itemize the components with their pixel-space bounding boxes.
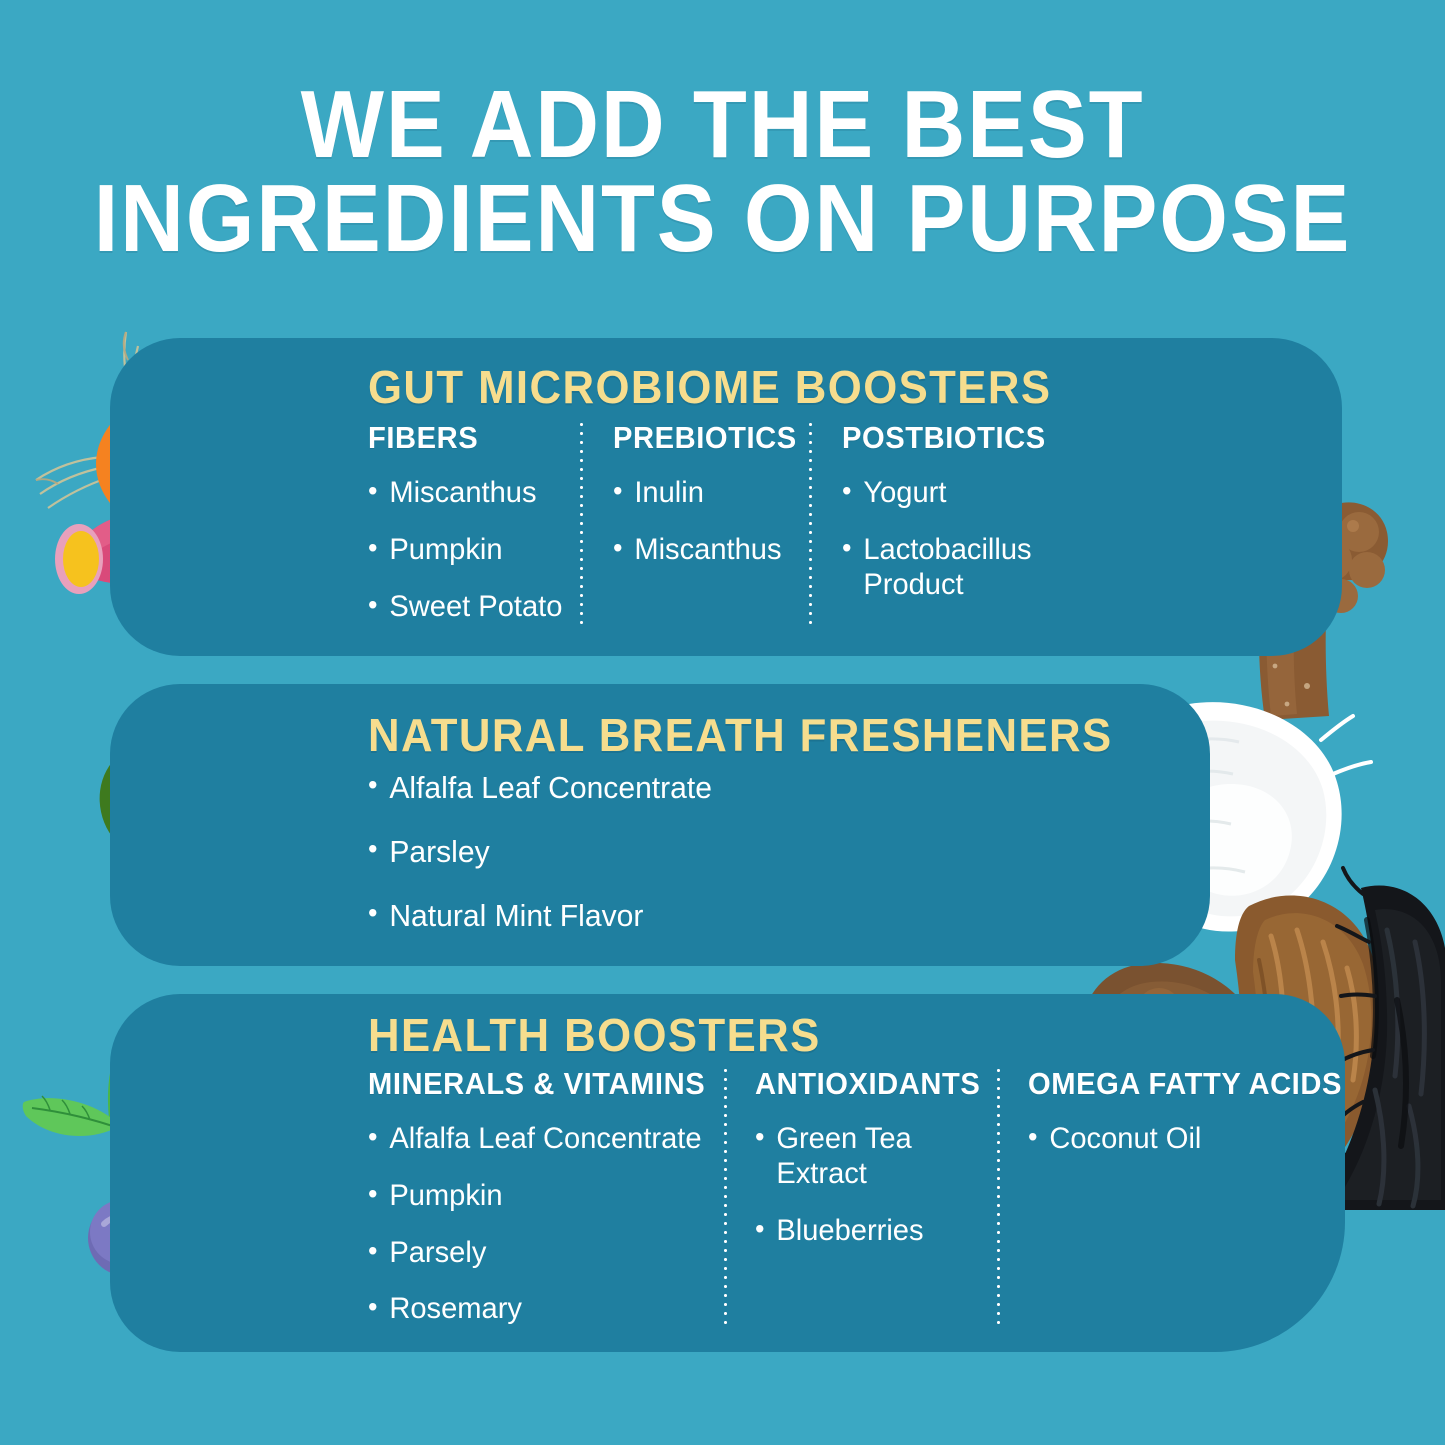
list-item: Coconut Oil bbox=[1028, 1122, 1311, 1157]
ingredient-list-breath-fresheners: Alfalfa Leaf Concentrate Parsley Natural… bbox=[368, 770, 1068, 934]
ingredient-list-postbiotics: Yogurt Lactobacillus Product bbox=[842, 476, 1072, 602]
section-heading-health-boosters: HEALTH BOOSTERS bbox=[368, 1008, 821, 1062]
section-heading-natural-breath-fresheners: NATURAL BREATH FRESHENERS bbox=[368, 708, 1113, 762]
ingredient-list-prebiotics: Inulin Miscanthus bbox=[613, 476, 809, 568]
ingredient-list-minerals-vitamins: Alfalfa Leaf Concentrate Pumpkin Parsely… bbox=[368, 1122, 724, 1327]
column-title-minerals-vitamins: MINERALS & VITAMINS bbox=[368, 1066, 703, 1102]
page-title: WE ADD THE BEST INGREDIENTS ON PURPOSE bbox=[0, 78, 1445, 266]
list-item: Blueberries bbox=[755, 1214, 990, 1249]
page-title-line-2: INGREDIENTS ON PURPOSE bbox=[58, 172, 1387, 266]
list-item: Alfalfa Leaf Concentrate bbox=[368, 770, 1047, 806]
ingredient-list-fibers: Miscanthus Pumpkin Sweet Potato bbox=[368, 476, 580, 624]
column-title-antioxidants: ANTIOXIDANTS bbox=[755, 1066, 982, 1102]
column-postbiotics: POSTBIOTICS Yogurt Lactobacillus Product bbox=[812, 420, 1072, 602]
section-heading-gut-microbiome-boosters: GUT MICROBIOME BOOSTERS bbox=[368, 360, 1051, 414]
list-item: Alfalfa Leaf Concentrate bbox=[368, 1122, 713, 1157]
column-omega-fatty-acids: OMEGA FATTY ACIDS Coconut Oil bbox=[1000, 1066, 1320, 1157]
list-item: Pumpkin bbox=[368, 533, 574, 568]
list-item: Natural Mint Flavor bbox=[368, 898, 1047, 934]
list-item: Pumpkin bbox=[368, 1179, 713, 1214]
column-prebiotics: PREBIOTICS Inulin Miscanthus bbox=[583, 420, 809, 568]
ingredient-list-antioxidants: Green Tea Extract Blueberries bbox=[755, 1122, 997, 1248]
column-antioxidants: ANTIOXIDANTS Green Tea Extract Blueberri… bbox=[727, 1066, 997, 1248]
list-item: Rosemary bbox=[368, 1292, 713, 1327]
ingredient-list-omega-fatty-acids: Coconut Oil bbox=[1028, 1122, 1320, 1157]
column-title-omega-fatty-acids: OMEGA FATTY ACIDS bbox=[1028, 1066, 1302, 1102]
column-title-fibers: FIBERS bbox=[368, 420, 567, 456]
section-panel-natural-breath-fresheners: NATURAL BREATH FRESHENERS Alfalfa Leaf C… bbox=[110, 684, 1210, 966]
list-item: Parsely bbox=[368, 1236, 713, 1271]
column-group-natural-breath-fresheners: Alfalfa Leaf Concentrate Parsley Natural… bbox=[368, 770, 1068, 962]
section-panel-health-boosters: HEALTH BOOSTERS MINERALS & VITAMINS Alfa… bbox=[110, 994, 1345, 1352]
column-title-prebiotics: PREBIOTICS bbox=[613, 420, 797, 456]
column-fibers: FIBERS Miscanthus Pumpkin Sweet Potato bbox=[368, 420, 580, 624]
column-group-health-boosters: MINERALS & VITAMINS Alfalfa Leaf Concent… bbox=[368, 1066, 1320, 1327]
list-item: Lactobacillus Product bbox=[842, 533, 1065, 603]
list-item: Miscanthus bbox=[613, 533, 803, 568]
list-item: Miscanthus bbox=[368, 476, 574, 511]
list-item: Yogurt bbox=[842, 476, 1065, 511]
list-item: Sweet Potato bbox=[368, 590, 574, 625]
page-title-line-1: WE ADD THE BEST bbox=[58, 78, 1387, 172]
list-item: Parsley bbox=[368, 834, 1047, 870]
list-item: Green Tea Extract bbox=[755, 1122, 990, 1192]
list-item: Inulin bbox=[613, 476, 803, 511]
column-minerals-vitamins: MINERALS & VITAMINS Alfalfa Leaf Concent… bbox=[368, 1066, 724, 1327]
section-panel-gut-microbiome-boosters: GUT MICROBIOME BOOSTERS FIBERS Miscanthu… bbox=[110, 338, 1342, 656]
column-title-postbiotics: POSTBIOTICS bbox=[842, 420, 1058, 456]
column-group-gut-microbiome-boosters: FIBERS Miscanthus Pumpkin Sweet Potato P… bbox=[368, 420, 1072, 624]
column-breath-fresheners: Alfalfa Leaf Concentrate Parsley Natural… bbox=[368, 770, 1068, 962]
